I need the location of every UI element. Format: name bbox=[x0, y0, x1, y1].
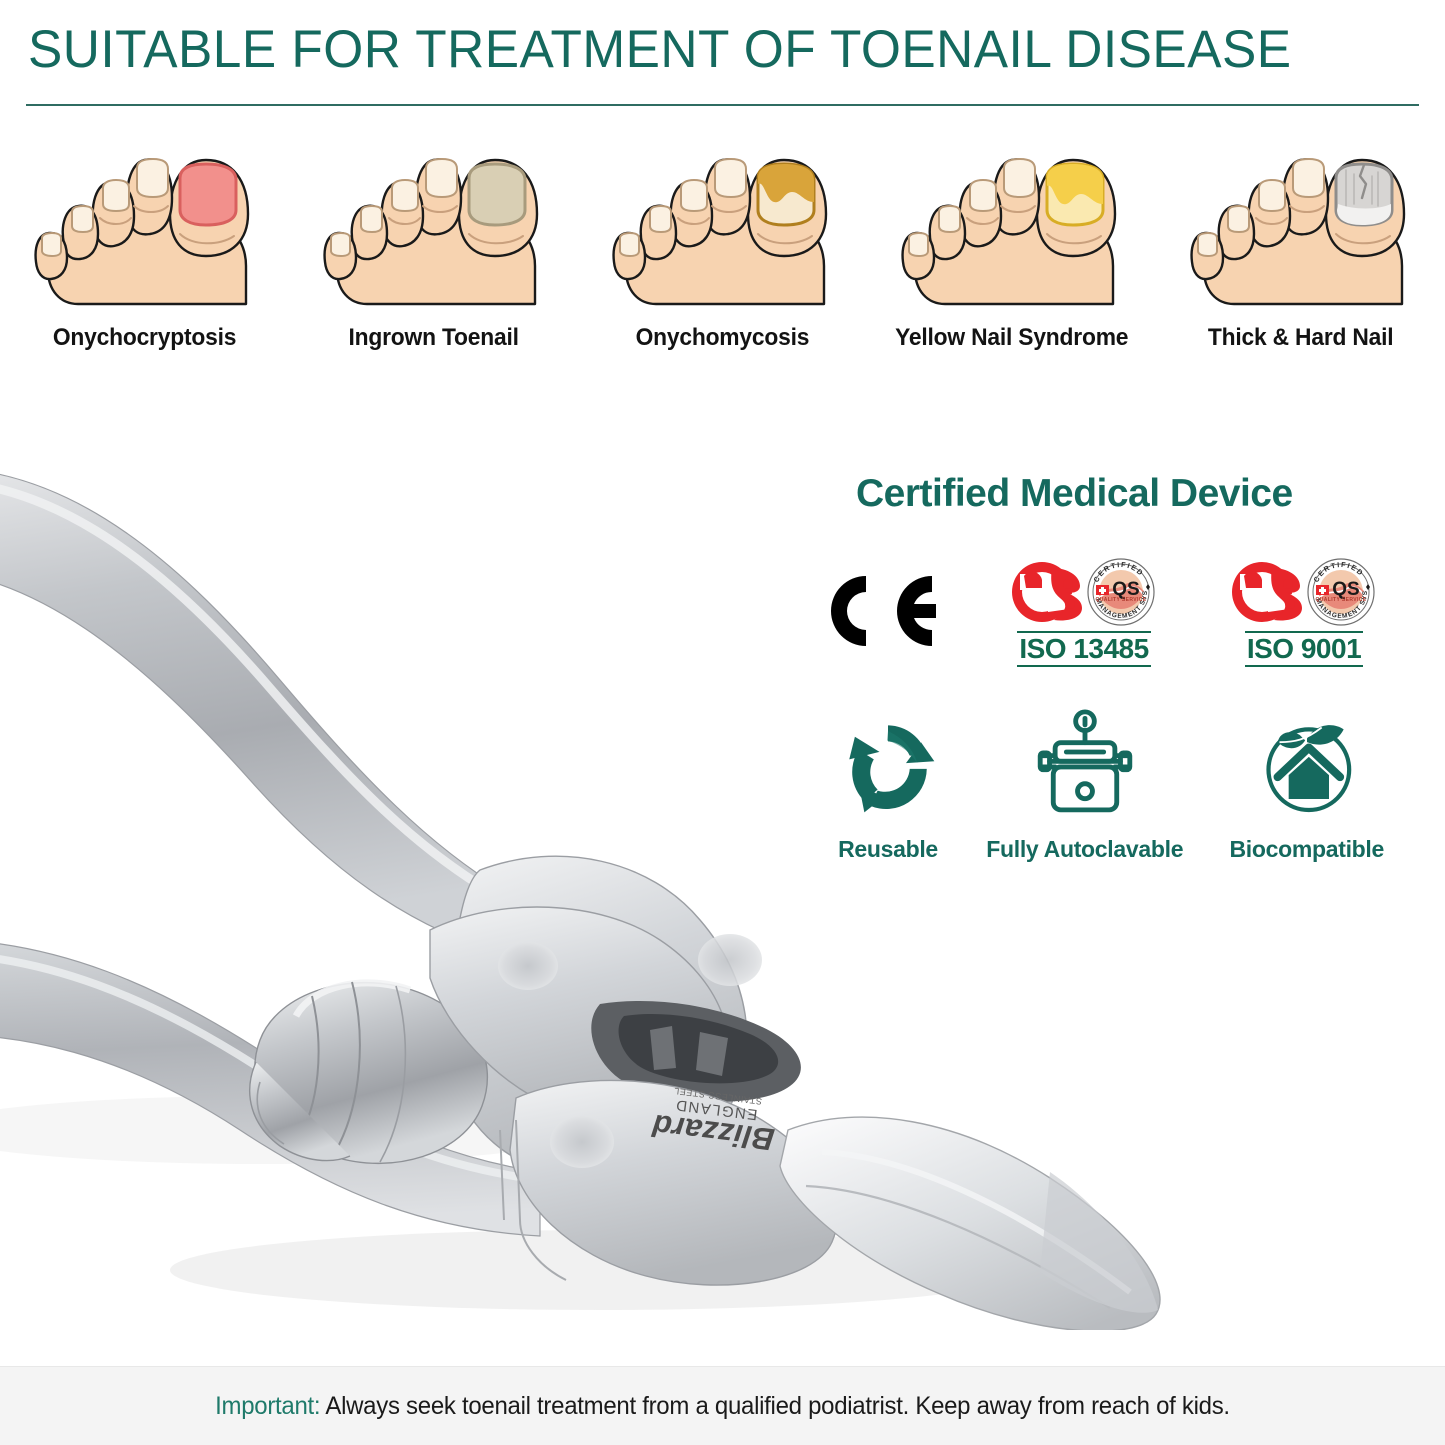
feature-label: Reusable bbox=[838, 836, 938, 863]
certification-badges: QS CERTIFIED MANAGEMENT SYSTEM QUALITY S… bbox=[820, 548, 1380, 673]
iso-9001-badge: QS CERTIFIED MANAGEMENT SYSTEM QUALITY S… bbox=[1228, 555, 1380, 667]
condition-card: Onychocryptosis bbox=[0, 118, 289, 380]
feature-item: Fully Autoclavable bbox=[986, 706, 1183, 863]
iso-standard-name: ISO 13485 bbox=[1017, 631, 1150, 667]
house-leaf-circle-icon bbox=[1252, 706, 1362, 826]
ce-mark-icon bbox=[820, 568, 940, 654]
feature-item: Biocompatible bbox=[1229, 706, 1384, 863]
title-divider bbox=[26, 104, 1419, 106]
iso-badge-logos: QS CERTIFIED MANAGEMENT SYSTEM QUALITY S… bbox=[1012, 555, 1156, 629]
svg-text:QUALITY SERVICE: QUALITY SERVICE bbox=[1315, 597, 1366, 603]
condition-card: Onychomycosis bbox=[578, 118, 867, 380]
feature-label: Fully Autoclavable bbox=[986, 836, 1183, 863]
condition-label: Thick & Hard Nail bbox=[1208, 324, 1394, 352]
foot-illustration-icon bbox=[20, 118, 270, 308]
condition-list: Onychocryptosis bbox=[0, 118, 1445, 380]
iso-standard-name: ISO 9001 bbox=[1245, 631, 1363, 667]
condition-card: Ingrown Toenail bbox=[289, 118, 578, 380]
iso-13485-badge: QS CERTIFIED MANAGEMENT SYSTEM QUALITY S… bbox=[1008, 555, 1160, 667]
condition-card: Thick & Hard Nail bbox=[1156, 118, 1445, 380]
foot-illustration-icon bbox=[887, 118, 1137, 308]
qs-certified-seal-icon: QS CERTIFIED MANAGEMENT SYSTEM QUALITY S… bbox=[1086, 557, 1156, 627]
qs-certified-seal-icon: QS CERTIFIED MANAGEMENT SYSTEM QUALITY S… bbox=[1306, 557, 1376, 627]
foot-illustration-icon bbox=[1176, 118, 1426, 308]
page-title: SUITABLE FOR TREATMENT OF TOENAIL DISEAS… bbox=[28, 18, 1376, 82]
condition-label: Onychomycosis bbox=[636, 324, 810, 352]
svg-text:QUALITY SERVICE: QUALITY SERVICE bbox=[1095, 597, 1146, 603]
footer-message: Always seek toenail treatment from a qua… bbox=[320, 1392, 1229, 1420]
qs-logo-icon bbox=[1232, 560, 1304, 624]
footer-note: Important: Always seek toenail treatment… bbox=[215, 1392, 1230, 1421]
feature-label: Biocompatible bbox=[1229, 836, 1384, 863]
condition-label: Yellow Nail Syndrome bbox=[895, 324, 1128, 352]
recycle-arrows-icon bbox=[836, 706, 940, 826]
condition-card: Yellow Nail Syndrome bbox=[867, 118, 1156, 380]
feature-list: Reusable Fully bbox=[836, 706, 1384, 863]
condition-label: Ingrown Toenail bbox=[348, 324, 518, 352]
feature-item: Reusable bbox=[836, 706, 940, 863]
foot-illustration-icon bbox=[309, 118, 559, 308]
autoclave-sterilizer-icon bbox=[1029, 706, 1141, 826]
condition-label: Onychocryptosis bbox=[53, 324, 236, 352]
qs-logo-icon bbox=[1012, 560, 1084, 624]
certified-medical-device-heading: Certified Medical Device bbox=[856, 472, 1293, 516]
footer-important-label: Important: bbox=[215, 1392, 320, 1420]
foot-illustration-icon bbox=[598, 118, 848, 308]
footer-band: Important: Always seek toenail treatment… bbox=[0, 1366, 1445, 1445]
iso-badge-logos: QS CERTIFIED MANAGEMENT SYSTEM QUALITY S… bbox=[1232, 555, 1376, 629]
